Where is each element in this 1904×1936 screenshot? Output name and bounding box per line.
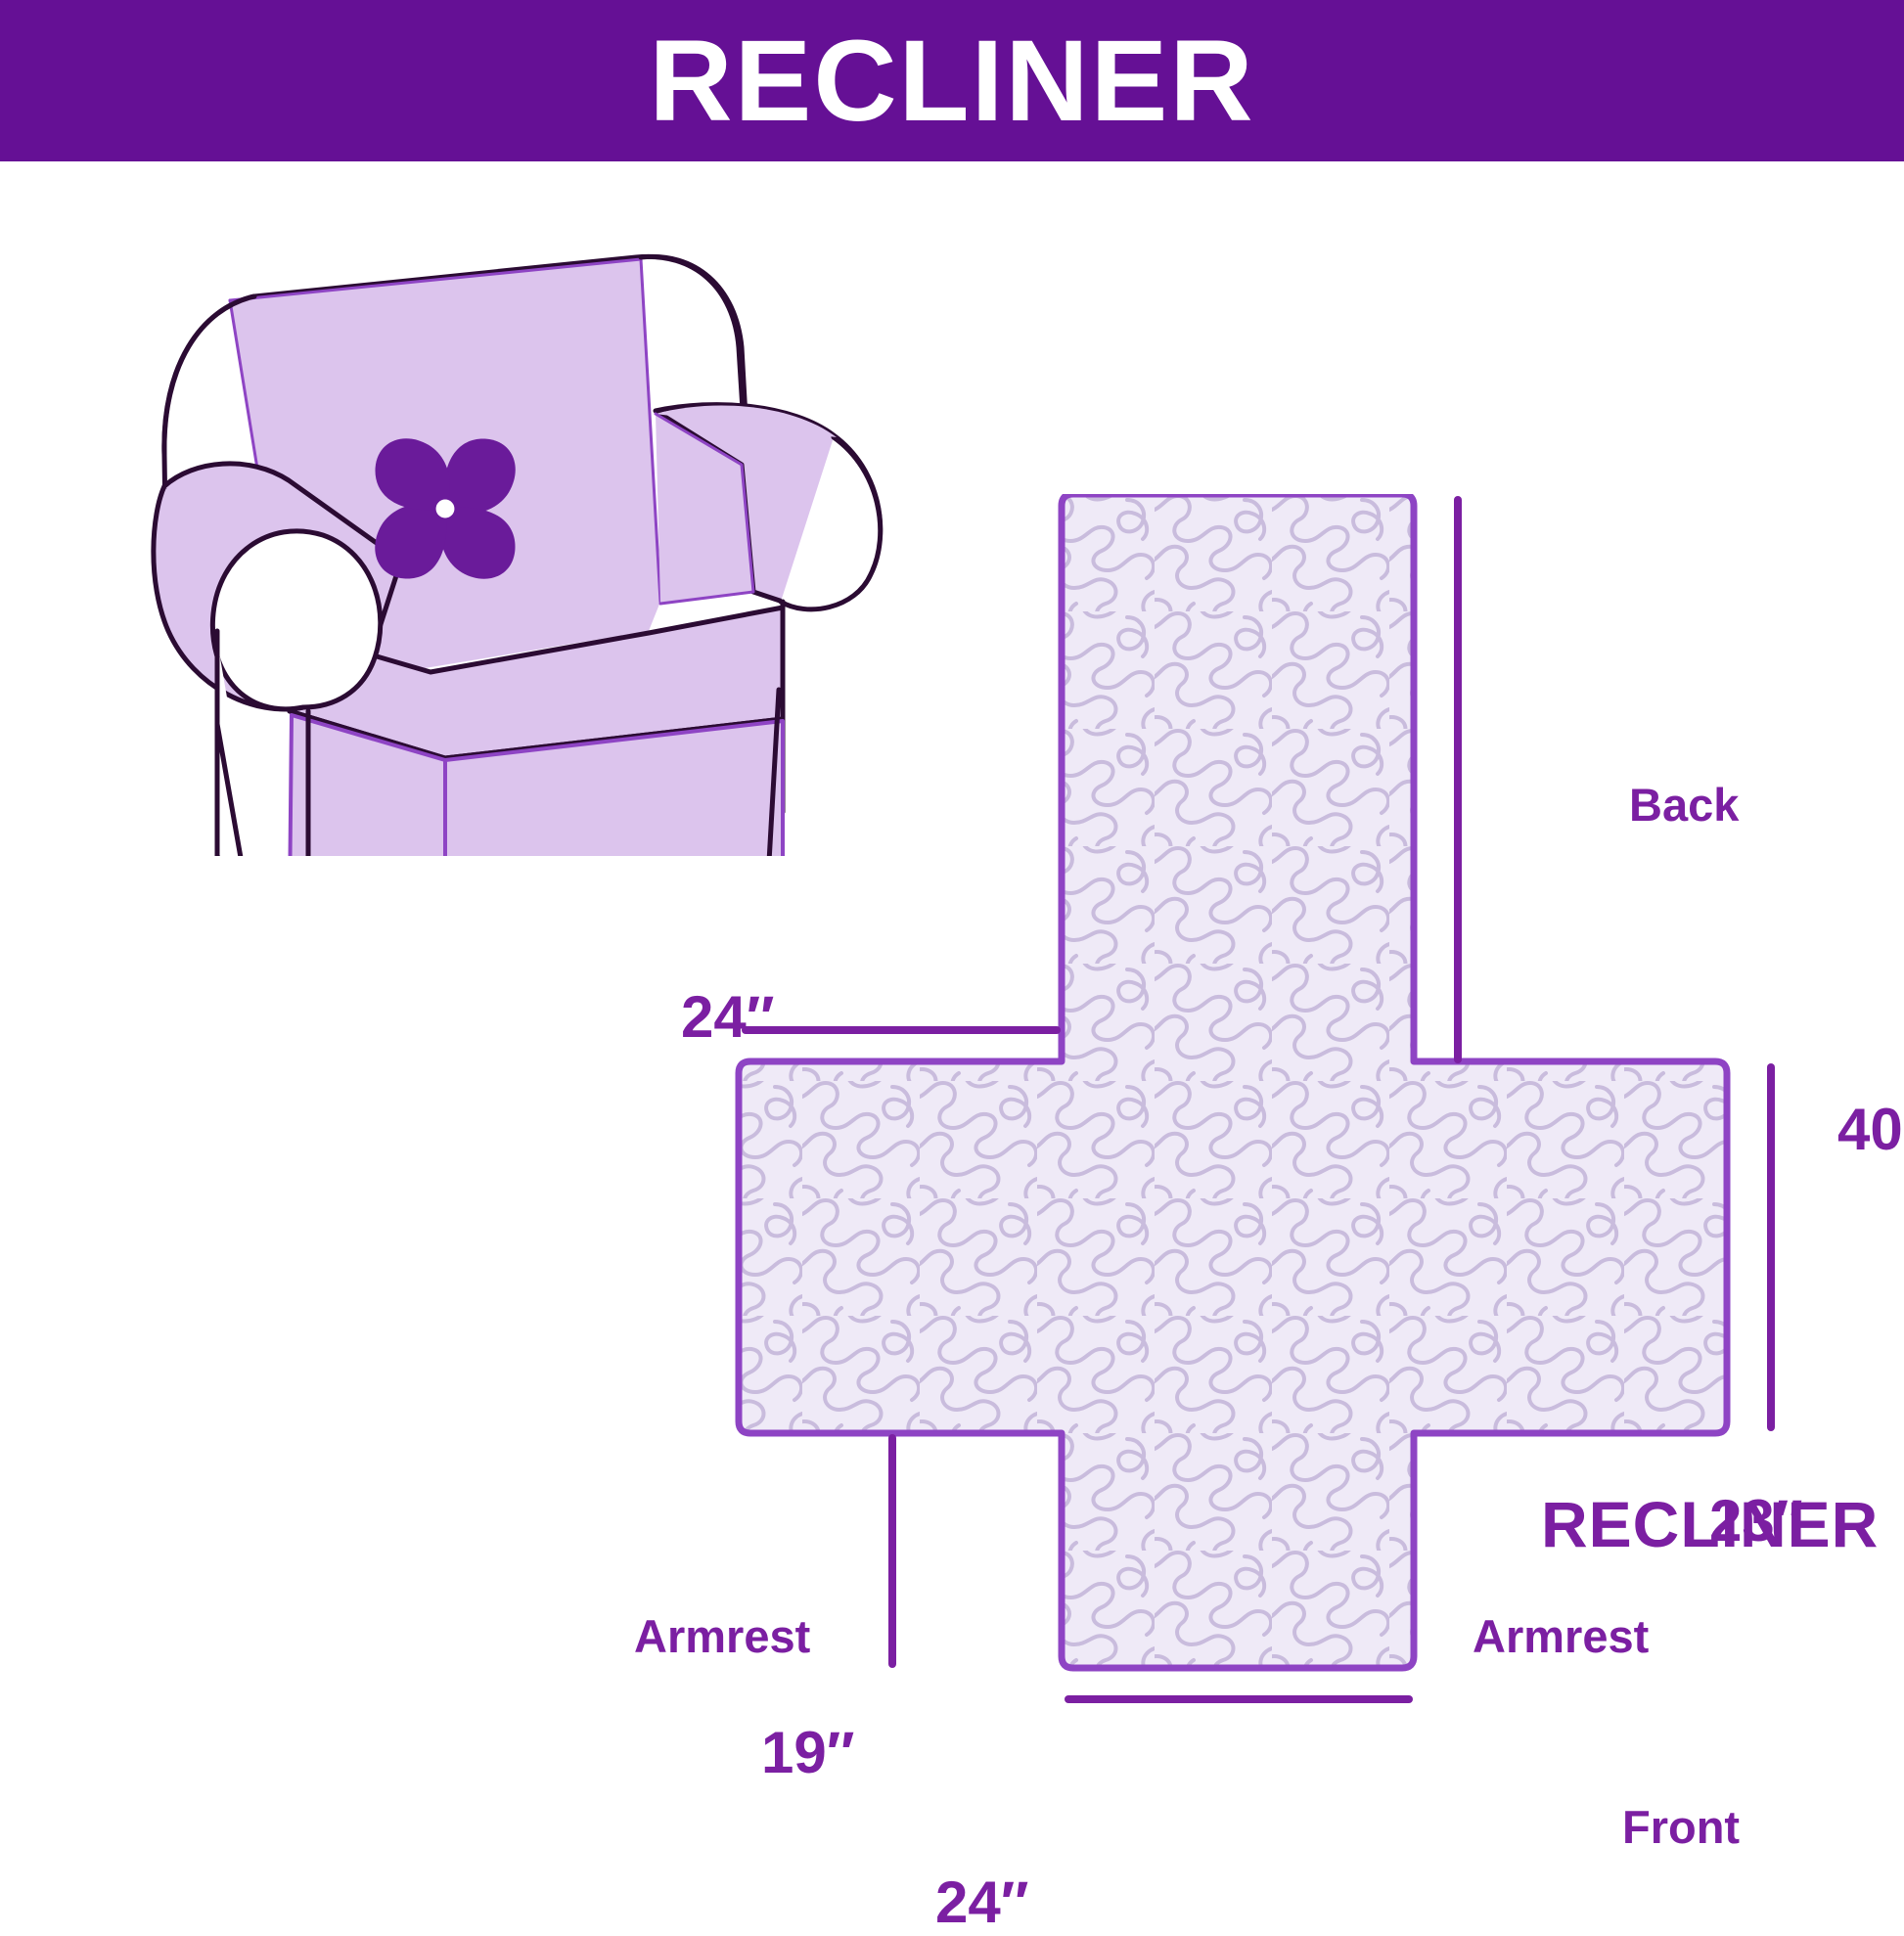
header-banner: RECLINER bbox=[0, 0, 1904, 161]
cover-cross-diagram: Back RECLINER Armrest Armrest Front 40″ … bbox=[685, 494, 1839, 1922]
panel-label-back: Back bbox=[1629, 778, 1739, 832]
dimension-label-front-height: 19″ bbox=[761, 1719, 854, 1786]
dimension-label-armrest-height: 23″ bbox=[1709, 1487, 1802, 1554]
panel-label-armrest-left: Armrest bbox=[634, 1609, 810, 1663]
dimension-label-back-width: 24″ bbox=[681, 983, 774, 1051]
panel-label-front: Front bbox=[1622, 1800, 1740, 1854]
content-stage: Back RECLINER Armrest Armrest Front 40″ … bbox=[0, 161, 1904, 1904]
dimension-label-front-width: 24″ bbox=[935, 1868, 1028, 1936]
dimension-label-back-height: 40″ bbox=[1837, 1096, 1904, 1163]
panel-label-armrest-right: Armrest bbox=[1473, 1609, 1649, 1663]
page-title: RECLINER bbox=[649, 23, 1254, 139]
